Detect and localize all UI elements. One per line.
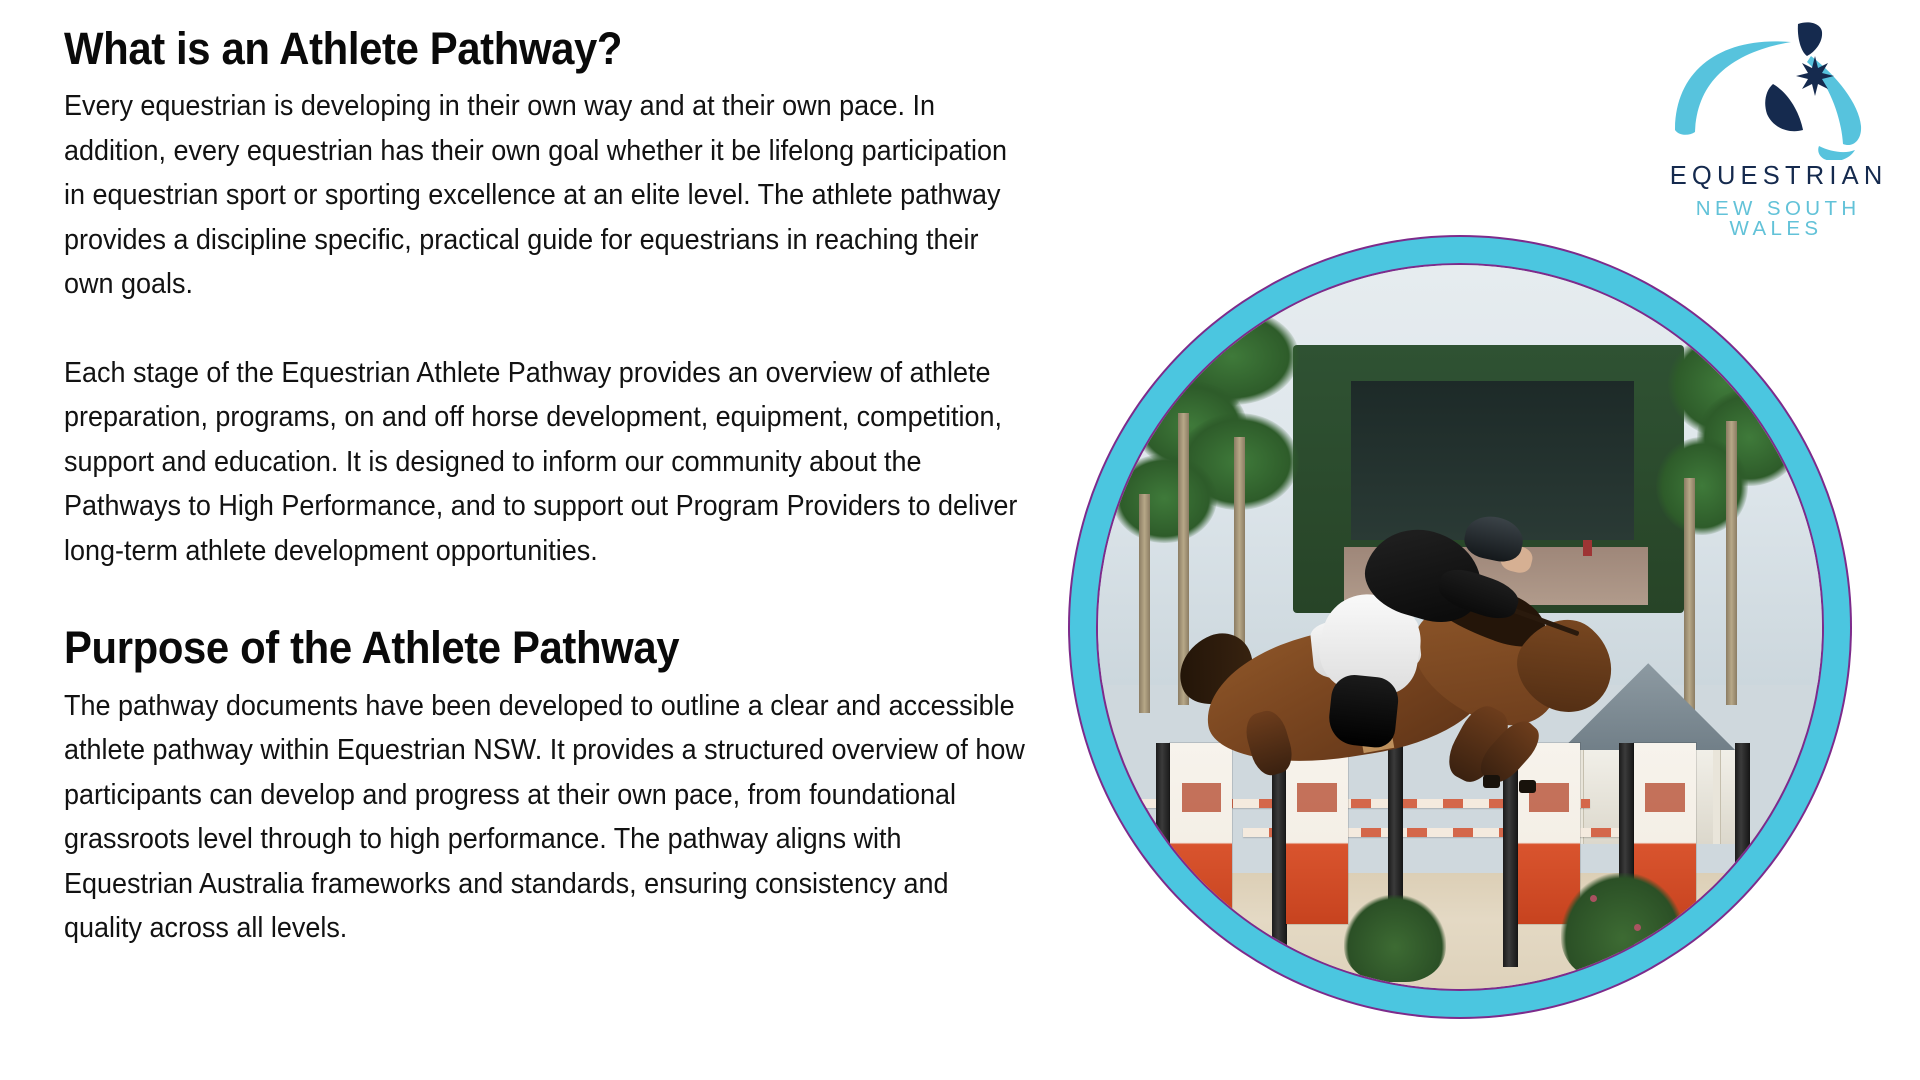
logo-text-equestrian: EQUESTRIAN [1651,164,1901,190]
shrub [1561,873,1684,982]
horse-and-rider [1178,526,1627,816]
horse-hoof [1483,775,1500,788]
shrub [1344,895,1445,982]
logo-wordmark: EQUESTRIAN NEW SOUTH WALES [1651,164,1901,240]
showjumping-photo [1098,265,1822,989]
flower [1735,910,1742,917]
horse-head-icon [1669,18,1883,160]
photo-scene [1098,265,1822,989]
rider-boot [1327,673,1401,749]
shrub [1127,888,1236,982]
gazebo-post [1713,750,1720,844]
section-title-purpose-of-the-athlete-pathway: Purpose of the Athlete Pathway [64,623,957,673]
flower [1634,924,1641,931]
purpose-section: Purpose of the Athlete Pathway The pathw… [64,623,1024,950]
paragraph-purpose-of-the-pathway: The pathway documents have been develope… [64,684,1031,951]
paragraph-what-is-an-athlete-pathway: Every equestrian is developing in their … [64,84,1031,307]
horse-hoof [1519,780,1536,793]
equestrian-nsw-logo: EQUESTRIAN NEW SOUTH WALES [1651,18,1901,223]
heading-spacer [64,573,1024,619]
shrub [1706,888,1815,982]
paragraph-spacer [64,307,1024,351]
paragraph-each-stage-of-the-pathway: Each stage of the Equestrian Athlete Pat… [64,351,1031,574]
flower [1192,939,1199,946]
article-content-column: What is an Athlete Pathway? Every equest… [64,24,1024,951]
palm-trees-right [1656,316,1815,721]
circular-photo-frame [1070,237,1850,1017]
page-title-what-is-an-athlete-pathway: What is an Athlete Pathway? [64,24,957,74]
logo-text-new-south-wales: NEW SOUTH WALES [1651,199,1901,240]
flower [1156,917,1163,924]
